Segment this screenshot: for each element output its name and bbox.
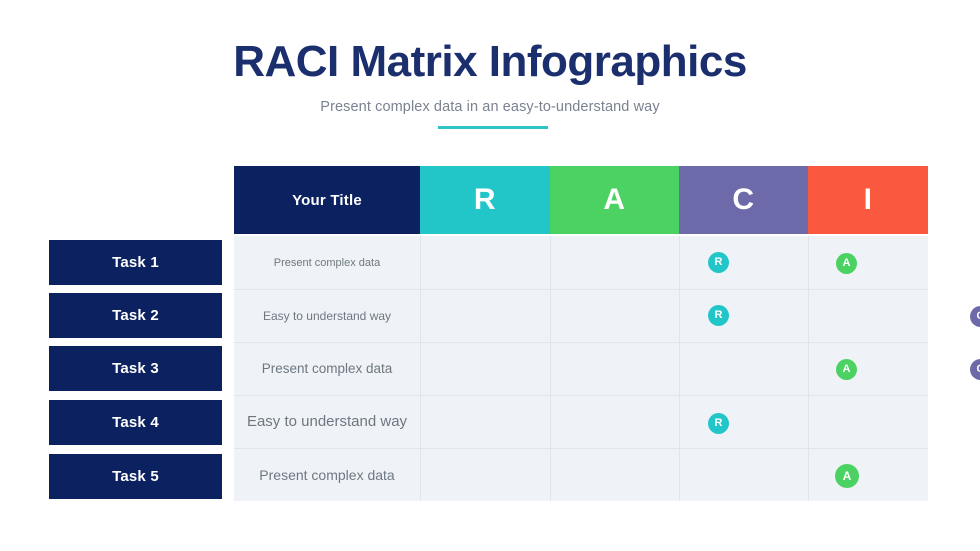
badge-c[interactable]: C: [970, 359, 980, 380]
badge-r[interactable]: R: [708, 413, 729, 434]
task-pill-label: Task 1: [112, 254, 159, 271]
badge-r[interactable]: R: [708, 252, 729, 273]
header-letter-c: C: [732, 183, 754, 217]
column-divider: [550, 236, 551, 501]
header-column-a[interactable]: A: [550, 166, 679, 234]
description-cell: Easy to understand way: [234, 395, 420, 448]
description-cell: Easy to understand way: [234, 289, 420, 342]
badge-c[interactable]: C: [970, 306, 980, 327]
header-column-r[interactable]: R: [420, 166, 550, 234]
description-cell: Present complex data: [234, 448, 420, 501]
task-pill-label: Task 3: [112, 360, 159, 377]
header-title-label: Your Title: [292, 192, 362, 209]
header-letter-a: A: [603, 183, 625, 217]
badge-a[interactable]: A: [836, 359, 857, 380]
description-cell: Present complex data: [234, 342, 420, 395]
badge-a[interactable]: A: [836, 253, 857, 274]
column-divider: [808, 236, 809, 501]
badge-a[interactable]: A: [835, 464, 859, 488]
header-column-c[interactable]: C: [679, 166, 808, 234]
task-pill-label: Task 2: [112, 307, 159, 324]
task-pill-label: Task 5: [112, 468, 159, 485]
header-your-title: Your Title: [234, 166, 420, 234]
matrix-grid: Present complex data R A I Easy to under…: [234, 236, 928, 501]
column-divider: [420, 236, 421, 501]
task-pill-label: Task 4: [112, 414, 159, 431]
task-pill-1[interactable]: Task 1: [49, 240, 222, 285]
header-column-i[interactable]: I: [808, 166, 928, 234]
task-pill-5[interactable]: Task 5: [49, 454, 222, 499]
header-letter-i: I: [864, 183, 873, 217]
badge-r[interactable]: R: [708, 305, 729, 326]
header-letter-r: R: [474, 183, 496, 217]
task-pill-3[interactable]: Task 3: [49, 346, 222, 391]
task-pill-4[interactable]: Task 4: [49, 400, 222, 445]
task-pill-2[interactable]: Task 2: [49, 293, 222, 338]
raci-matrix: Task 1 Task 2 Task 3 Task 4 Task 5 Your …: [0, 0, 980, 551]
column-divider: [679, 236, 680, 501]
description-cell: Present complex data: [234, 236, 420, 289]
